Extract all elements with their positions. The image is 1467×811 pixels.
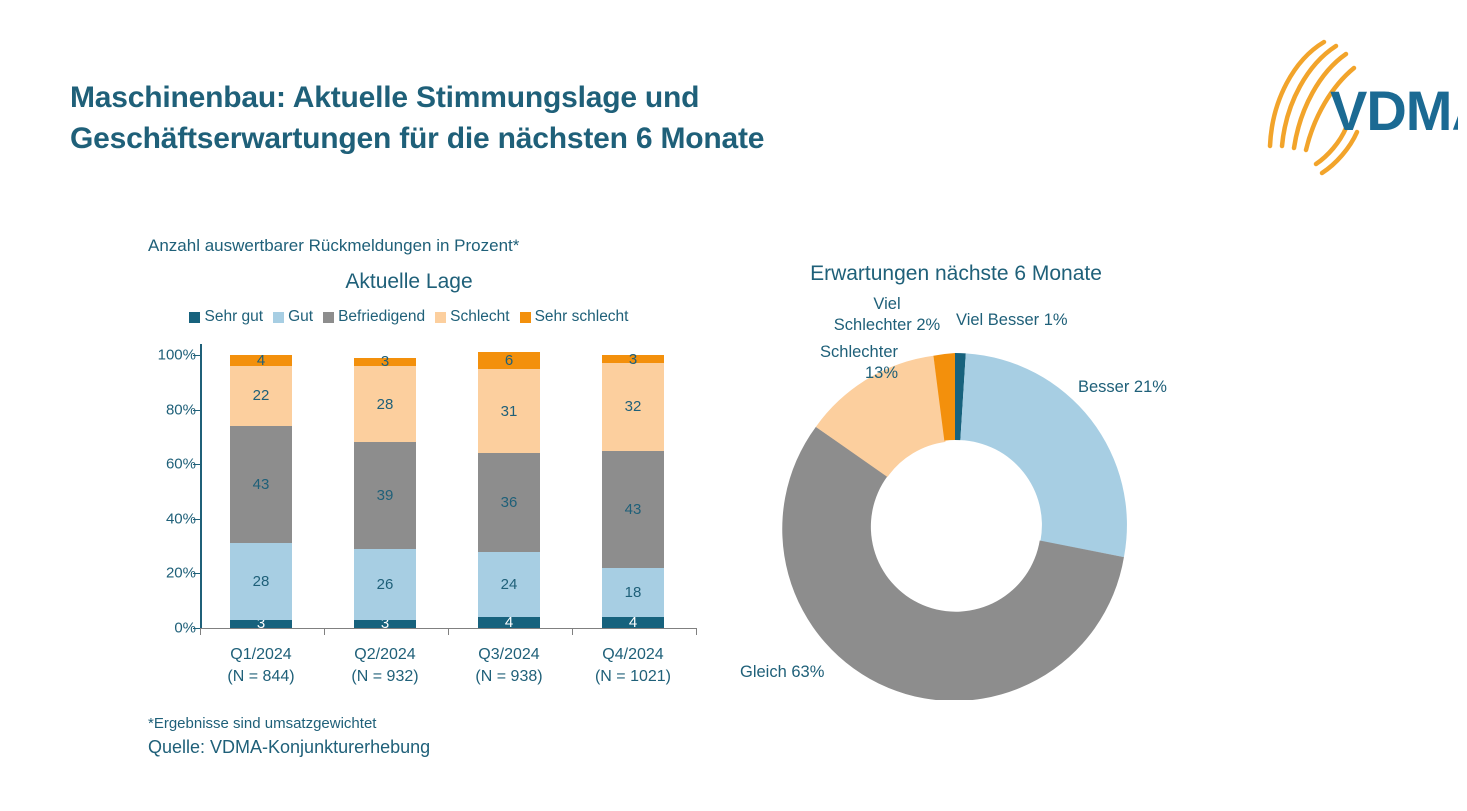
- bar-value-label: 28: [253, 574, 270, 589]
- page-title-line-1: Maschinenbau: Aktuelle Stimmungslage und: [70, 78, 1070, 119]
- x-category-n: (N = 938): [444, 666, 574, 688]
- bar-value-label: 3: [629, 352, 637, 367]
- bar-chart-title: Aktuelle Lage: [148, 270, 670, 294]
- donut-chart-graphic: [780, 350, 1130, 700]
- donut-chart-title: Erwartungen nächste 6 Monate: [730, 262, 1182, 286]
- bar-segment-gut: 18: [602, 568, 664, 617]
- legend-item-schlecht[interactable]: Schlecht: [435, 308, 509, 326]
- bar-value-label: 32: [625, 399, 642, 414]
- y-tick-label-0: 0%: [136, 620, 196, 637]
- bar-chart: Anzahl auswertbarer Rückmeldungen in Pro…: [148, 236, 718, 706]
- y-tick-label-80: 80%: [136, 401, 196, 418]
- y-tick-label-20: 20%: [136, 565, 196, 582]
- svg-text:VDMA: VDMA: [1330, 79, 1458, 142]
- legend-swatch-icon: [435, 312, 446, 323]
- y-axis-line: [200, 344, 202, 628]
- bar-column-q2-2024[interactable]: 3 26 39 28 3: [354, 358, 416, 628]
- bar-segment-gut: 28: [230, 543, 292, 619]
- x-tick-mark: [448, 628, 449, 635]
- bar-value-label: 36: [501, 495, 518, 510]
- x-tick-mark: [200, 628, 201, 635]
- legend-swatch-icon: [323, 312, 334, 323]
- bar-column-q1-2024[interactable]: 3 28 43 22 4: [230, 355, 292, 628]
- bar-segment-sehr-gut: 3: [354, 620, 416, 628]
- vdma-logo-icon: VDMA: [1262, 38, 1458, 178]
- footnote-text: *Ergebnisse sind umsatzgewichtet: [148, 714, 430, 734]
- legend-swatch-icon: [189, 312, 200, 323]
- y-tick-label-100: 100%: [136, 347, 196, 364]
- legend-label: Schlecht: [450, 308, 509, 326]
- bar-column-q3-2024[interactable]: 4 24 36 31 6: [478, 352, 540, 628]
- legend-swatch-icon: [520, 312, 531, 323]
- x-tick-mark: [324, 628, 325, 635]
- donut-label-besser: Besser 21%: [1078, 377, 1167, 398]
- x-category-label-q2-2024: Q2/2024 (N = 932): [320, 644, 450, 688]
- bar-segment-gut: 24: [478, 552, 540, 618]
- y-tick-label-60: 60%: [136, 456, 196, 473]
- x-category-n: (N = 932): [320, 666, 450, 688]
- bar-segment-sehr-schlecht: 6: [478, 352, 540, 368]
- bar-chart-subtitle: Anzahl auswertbarer Rückmeldungen in Pro…: [148, 236, 519, 256]
- donut-label-line-2: 13%: [768, 363, 898, 384]
- bar-segment-befriedigend: 43: [230, 426, 292, 543]
- bar-value-label: 4: [629, 615, 637, 630]
- bar-value-label: 4: [257, 353, 265, 368]
- bar-column-q4-2024[interactable]: 4 18 43 32 3: [602, 355, 664, 628]
- x-category-n: (N = 1021): [568, 666, 698, 688]
- donut-label-line-2: Schlechter 2%: [822, 315, 952, 336]
- x-category-quarter: Q3/2024: [444, 644, 574, 666]
- vdma-logo: VDMA: [1262, 38, 1458, 178]
- y-tick-label-40: 40%: [136, 510, 196, 527]
- bar-value-label: 3: [381, 354, 389, 369]
- legend-label: Gut: [288, 308, 313, 326]
- bar-value-label: 26: [377, 577, 394, 592]
- bar-segment-sehr-schlecht: 4: [230, 355, 292, 366]
- donut-chart: Erwartungen nächste 6 Monate Viel Schlec…: [730, 262, 1210, 692]
- donut-label-viel-besser: Viel Besser 1%: [956, 310, 1068, 331]
- bar-segment-schlecht: 28: [354, 366, 416, 442]
- x-category-quarter: Q2/2024: [320, 644, 450, 666]
- bar-segment-sehr-gut: 3: [230, 620, 292, 628]
- bar-segment-befriedigend: 43: [602, 451, 664, 568]
- bar-segment-sehr-schlecht: 3: [602, 355, 664, 363]
- legend-item-befriedigend[interactable]: Befriedigend: [323, 308, 425, 326]
- bar-segment-sehr-gut: 4: [602, 617, 664, 628]
- bar-chart-plot-area: 100% 80% 60% 40% 20% 0% 3 28 43 22: [148, 344, 708, 639]
- bar-segment-sehr-gut: 4: [478, 617, 540, 628]
- donut-label-gleich: Gleich 63%: [740, 662, 824, 683]
- x-category-n: (N = 844): [196, 666, 326, 688]
- bar-value-label: 43: [253, 477, 270, 492]
- x-tick-mark: [572, 628, 573, 635]
- bar-segment-befriedigend: 36: [478, 453, 540, 551]
- bar-value-label: 31: [501, 404, 518, 419]
- page-title-line-2: Geschäftserwartungen für die nächsten 6 …: [70, 119, 1070, 160]
- bar-segment-schlecht: 22: [230, 366, 292, 426]
- legend-item-gut[interactable]: Gut: [273, 308, 313, 326]
- x-category-label-q3-2024: Q3/2024 (N = 938): [444, 644, 574, 688]
- legend-label: Sehr gut: [204, 308, 263, 326]
- footnotes: *Ergebnisse sind umsatzgewichtet Quelle:…: [148, 714, 430, 760]
- x-tick-mark: [696, 628, 697, 635]
- bar-value-label: 43: [625, 502, 642, 517]
- source-text: Quelle: VDMA-Konjunkturerhebung: [148, 735, 430, 759]
- bar-value-label: 28: [377, 397, 394, 412]
- donut-label-line-1: Schlechter: [768, 342, 898, 363]
- bar-segment-sehr-schlecht: 3: [354, 358, 416, 366]
- bar-segment-gut: 26: [354, 549, 416, 620]
- bar-segment-schlecht: 31: [478, 369, 540, 454]
- donut-label-line-1: Viel: [822, 294, 952, 315]
- page-title: Maschinenbau: Aktuelle Stimmungslage und…: [70, 78, 1070, 160]
- bar-chart-legend: Sehr gut Gut Befriedigend Schlecht Sehr …: [148, 308, 670, 326]
- legend-item-sehr-gut[interactable]: Sehr gut: [189, 308, 263, 326]
- bar-value-label: 39: [377, 488, 394, 503]
- bar-value-label: 6: [505, 353, 513, 368]
- donut-label-viel-schlechter: Viel Schlechter 2%: [822, 294, 952, 337]
- bar-segment-befriedigend: 39: [354, 442, 416, 549]
- x-category-label-q1-2024: Q1/2024 (N = 844): [196, 644, 326, 688]
- legend-swatch-icon: [273, 312, 284, 323]
- x-category-label-q4-2024: Q4/2024 (N = 1021): [568, 644, 698, 688]
- bar-segment-schlecht: 32: [602, 363, 664, 450]
- legend-label: Sehr schlecht: [535, 308, 629, 326]
- bar-value-label: 4: [505, 615, 513, 630]
- slide-canvas: Maschinenbau: Aktuelle Stimmungslage und…: [0, 0, 1467, 811]
- legend-label: Befriedigend: [338, 308, 425, 326]
- x-category-quarter: Q1/2024: [196, 644, 326, 666]
- bar-value-label: 18: [625, 585, 642, 600]
- legend-item-sehr-schlecht[interactable]: Sehr schlecht: [520, 308, 629, 326]
- bar-value-label: 24: [501, 577, 518, 592]
- x-category-quarter: Q4/2024: [568, 644, 698, 666]
- bar-value-label: 22: [253, 388, 270, 403]
- donut-label-schlechter: Schlechter 13%: [768, 342, 898, 385]
